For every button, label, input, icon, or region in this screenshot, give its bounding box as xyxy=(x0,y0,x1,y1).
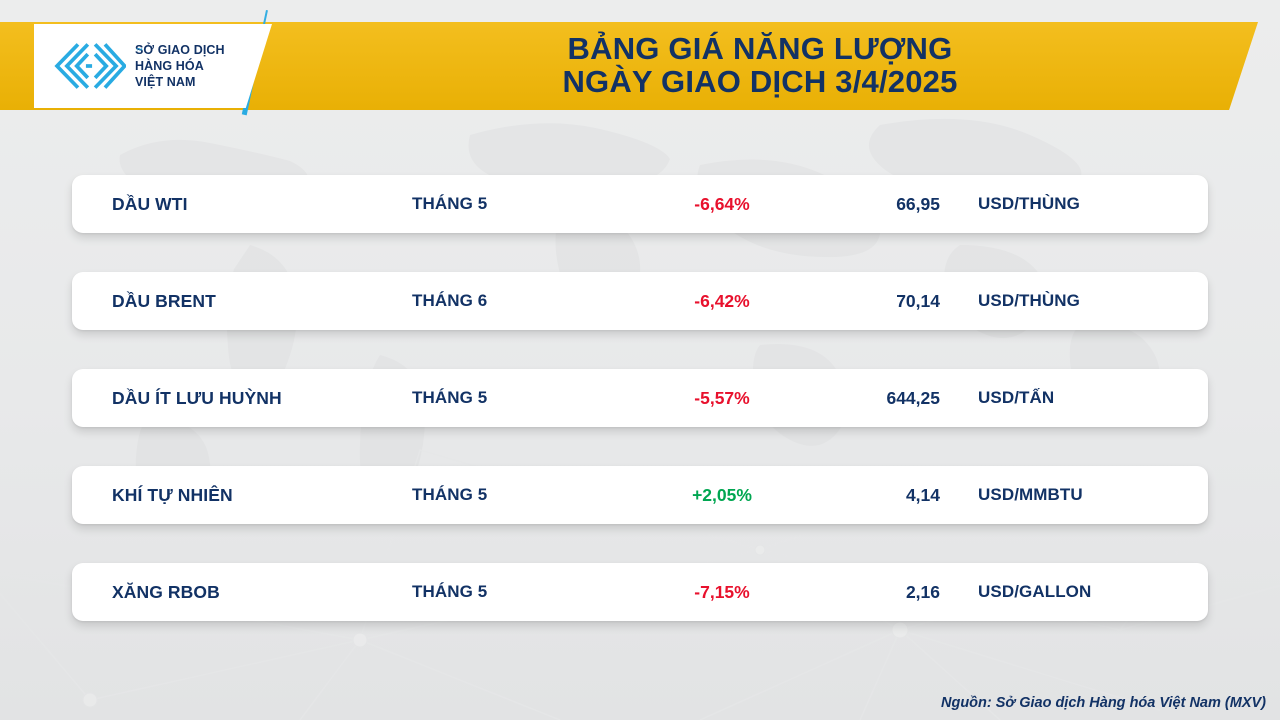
change-percent: -7,15% xyxy=(642,582,802,603)
contract-month: THÁNG 6 xyxy=(412,291,487,311)
price-value: 66,95 xyxy=(832,194,940,215)
change-percent: -5,57% xyxy=(642,388,802,409)
energy-price-board: ™ SỞ GIAO DỊCH HÀNG HÓA VIỆT NAM BẢNG GI… xyxy=(0,0,1280,720)
change-percent: -6,64% xyxy=(642,194,802,215)
table-row: XĂNG RBOBTHÁNG 5-7,15%2,16USD/GALLON xyxy=(72,563,1208,621)
contract-month: THÁNG 5 xyxy=(412,194,487,214)
price-unit: USD/GALLON xyxy=(978,582,1091,602)
price-unit: USD/THÙNG xyxy=(978,291,1080,311)
price-value: 70,14 xyxy=(832,291,940,312)
brand-logo-card: ™ SỞ GIAO DỊCH HÀNG HÓA VIỆT NAM xyxy=(34,24,272,108)
table-row: DẦU ÍT LƯU HUỲNHTHÁNG 5-5,57%644,25USD/T… xyxy=(72,369,1208,427)
brand-line-1: SỞ GIAO DỊCH xyxy=(135,42,225,58)
price-unit: USD/MMBTU xyxy=(978,485,1083,505)
source-note: Nguồn: Sở Giao dịch Hàng hóa Việt Nam (M… xyxy=(941,695,1266,711)
brand-line-2: HÀNG HÓA xyxy=(135,58,225,74)
contract-month: THÁNG 5 xyxy=(412,388,487,408)
table-row: DẦU BRENTTHÁNG 6-6,42%70,14USD/THÙNG xyxy=(72,272,1208,330)
brand-name: SỞ GIAO DỊCH HÀNG HÓA VIỆT NAM xyxy=(135,42,225,91)
commodity-name: DẦU ÍT LƯU HUỲNH xyxy=(112,388,282,409)
title-line-2: NGÀY GIAO DỊCH 3/4/2025 xyxy=(562,66,957,99)
price-value: 644,25 xyxy=(832,388,940,409)
change-percent: -6,42% xyxy=(642,291,802,312)
commodity-name: DẦU BRENT xyxy=(112,291,216,312)
price-unit: USD/THÙNG xyxy=(978,194,1080,214)
change-percent: +2,05% xyxy=(642,485,802,506)
contract-month: THÁNG 5 xyxy=(412,582,487,602)
trademark-symbol: ™ xyxy=(136,48,143,55)
commodity-name: DẦU WTI xyxy=(112,194,188,215)
price-table: DẦU WTITHÁNG 5-6,64%66,95USD/THÙNGDẦU BR… xyxy=(72,175,1208,660)
contract-month: THÁNG 5 xyxy=(412,485,487,505)
price-value: 4,14 xyxy=(832,485,940,506)
price-unit: USD/TẤN xyxy=(978,388,1054,408)
title-line-1: BẢNG GIÁ NĂNG LƯỢNG xyxy=(568,33,953,66)
commodity-name: KHÍ TỰ NHIÊN xyxy=(112,485,233,506)
brand-line-3: VIỆT NAM xyxy=(135,74,225,90)
table-row: KHÍ TỰ NHIÊNTHÁNG 5+2,05%4,14USD/MMBTU xyxy=(72,466,1208,524)
table-row: DẦU WTITHÁNG 5-6,64%66,95USD/THÙNG xyxy=(72,175,1208,233)
commodity-name: XĂNG RBOB xyxy=(112,582,220,603)
page-title: BẢNG GIÁ NĂNG LƯỢNG NGÀY GIAO DỊCH 3/4/2… xyxy=(300,24,1220,108)
price-value: 2,16 xyxy=(832,582,940,603)
mxv-maze-emblem-icon xyxy=(52,42,126,90)
